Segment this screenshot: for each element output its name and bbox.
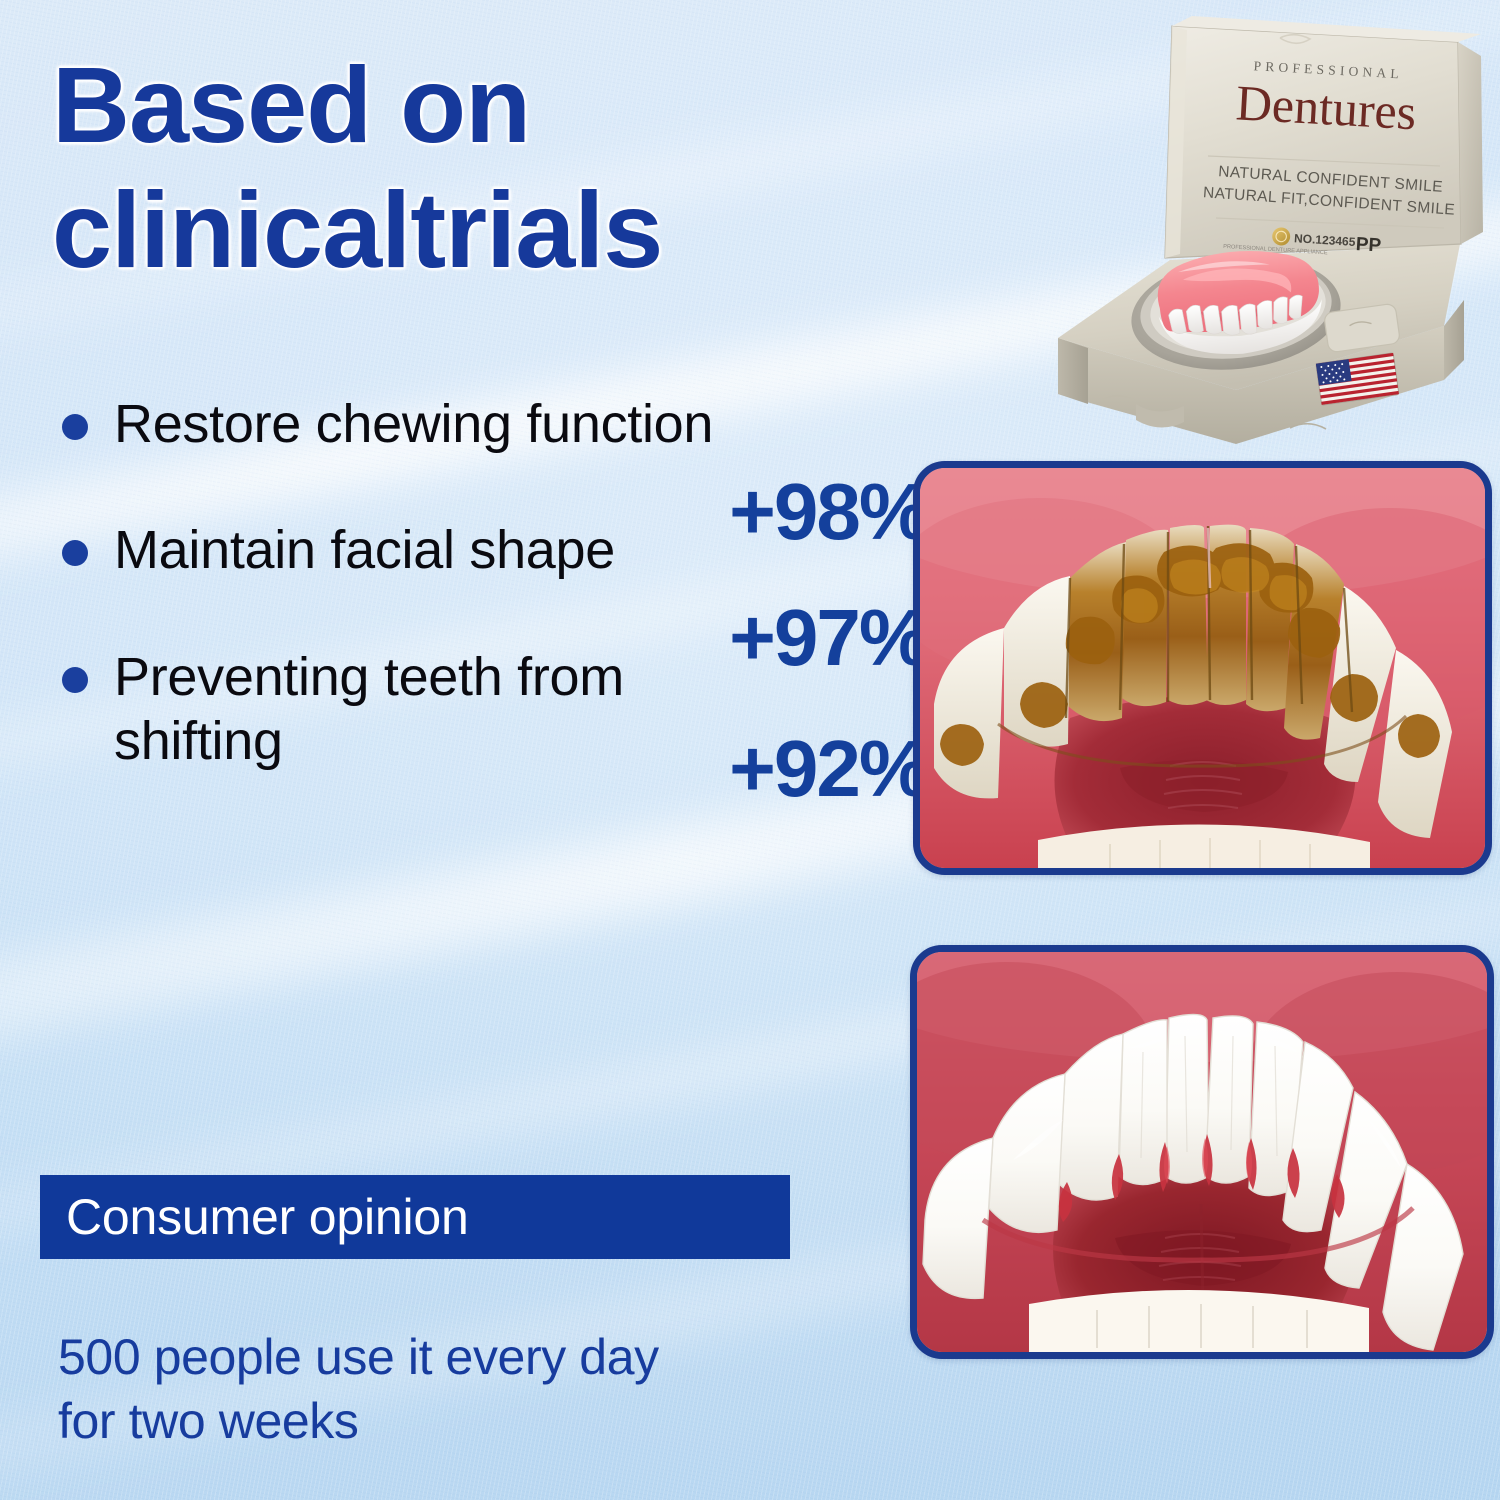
page-title: Based on clinicaltrials <box>52 42 912 293</box>
product-package-image: PROFESSIONAL Dentures NATURAL CONFIDENT … <box>1040 8 1500 468</box>
footnote-line-1: 500 people use it every day <box>58 1325 888 1389</box>
usage-footnote: 500 people use it every day for two week… <box>58 1325 888 1453</box>
after-photo <box>910 945 1494 1359</box>
svg-text:PP: PP <box>1355 234 1382 257</box>
list-item: Restore chewing function +98% <box>56 392 936 456</box>
headline-line-2: clinicaltrials <box>52 167 912 292</box>
headline-line-1: Based on <box>52 42 912 167</box>
footnote-line-2: for two weeks <box>58 1389 888 1453</box>
list-item: Preventing teeth from shifting +92% <box>56 645 936 774</box>
bullet-dot-icon <box>62 667 88 693</box>
list-item: Maintain facial shape +97% <box>56 518 936 582</box>
consumer-opinion-label: Consumer opinion <box>66 1188 469 1246</box>
svg-text:Dentures: Dentures <box>1234 74 1417 140</box>
benefit-label: Maintain facial shape <box>114 518 714 582</box>
consumer-opinion-banner: Consumer opinion <box>40 1175 790 1259</box>
benefits-list: Restore chewing function +98% Maintain f… <box>56 392 936 773</box>
bullet-dot-icon <box>62 540 88 566</box>
benefit-label: Preventing teeth from shifting <box>114 645 714 774</box>
benefit-percent: +92% <box>729 729 928 809</box>
bullet-dot-icon <box>62 414 88 440</box>
before-photo <box>913 461 1492 875</box>
ad-canvas: Based on clinicaltrials Restore chewing … <box>0 0 1500 1500</box>
benefit-label: Restore chewing function <box>114 392 714 456</box>
